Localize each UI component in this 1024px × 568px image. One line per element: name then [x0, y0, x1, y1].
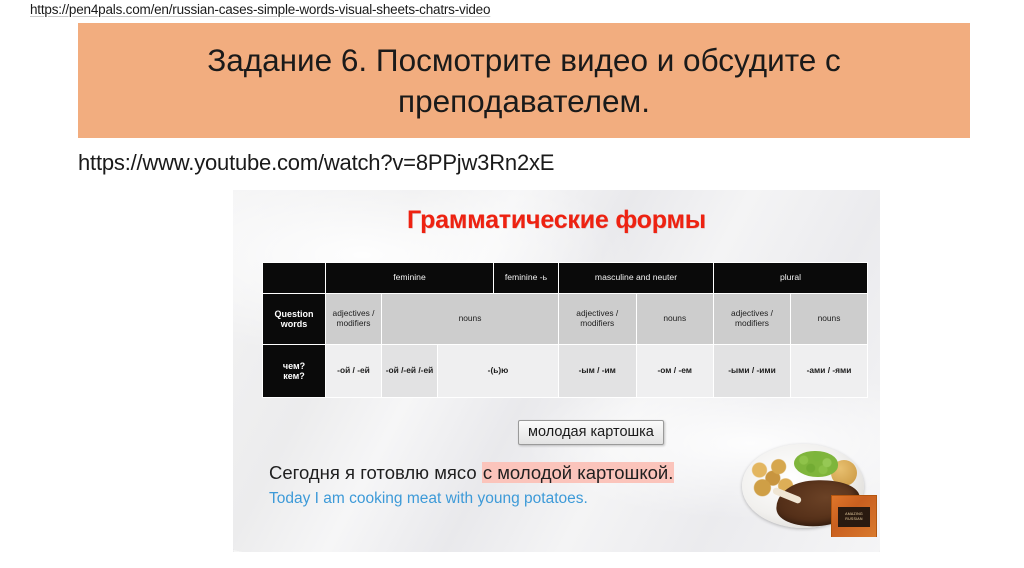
subheader-nouns-plural: nouns	[791, 294, 868, 345]
subheader-nouns-fem: nouns	[382, 294, 559, 345]
logo-line2: RUSSIAN	[845, 517, 862, 522]
example-sentence-russian-highlight: с молодой картошкой.	[482, 462, 675, 483]
page-title: Задание 6. Посмотрите видео и обсудите с…	[78, 40, 970, 121]
grammar-forms-table: feminine feminine -ь masculine and neute…	[262, 262, 868, 398]
table-data-row: чем? кем? -ой / -ей -ой /-ей /-ей -(ь)ю …	[263, 345, 868, 398]
amazing-russian-logo: AMAZING RUSSIAN	[831, 495, 877, 537]
header-cell-feminine: feminine	[326, 263, 494, 294]
value-adjectives-masc: -ым / -им	[559, 345, 637, 398]
example-sentence-russian-plain: Сегодня я готовлю мясо	[269, 462, 482, 483]
food-photo: AMAZING RUSSIAN	[736, 442, 878, 537]
value-nouns-fem-b: -(ь)ю	[438, 345, 559, 398]
example-sentence-english: Today I am cooking meat with young potat…	[269, 490, 588, 508]
header-cell-masculine-neuter: masculine and neuter	[559, 263, 714, 294]
question-word-line1: чем?	[264, 361, 324, 371]
value-nouns-masc: -ом / -ем	[636, 345, 714, 398]
subheader-adjectives-fem: adjectives / modifiers	[326, 294, 382, 345]
value-nouns-fem-a: -ой /-ей /-ей	[382, 345, 438, 398]
row-label-question-words: Question words	[263, 294, 326, 345]
subheader-nouns-masc: nouns	[636, 294, 714, 345]
value-adjectives-plural: -ыми / -ими	[714, 345, 791, 398]
youtube-video-link[interactable]: https://www.youtube.com/watch?v=8PPjw3Rn…	[78, 150, 554, 176]
image-title: Грамматические формы	[233, 206, 880, 235]
value-adjectives-fem: -ой / -ей	[326, 345, 382, 398]
page-url-text: https://pen4pals.com/en/russian-cases-si…	[30, 2, 490, 17]
logo-inner-plate: AMAZING RUSSIAN	[838, 507, 870, 527]
table-subheader-row: Question words adjectives / modifiers no…	[263, 294, 868, 345]
header-cell-empty	[263, 263, 326, 294]
green-peas	[794, 451, 838, 477]
subheader-adjectives-plural: adjectives / modifiers	[714, 294, 791, 345]
callout-label: молодая картошка	[518, 420, 664, 445]
subheader-adjectives-masc: adjectives / modifiers	[559, 294, 637, 345]
grammar-forms-image: Грамматические формы feminine feminine -…	[233, 190, 880, 552]
table-header-row: feminine feminine -ь masculine and neute…	[263, 263, 868, 294]
row-label-question: чем? кем?	[263, 345, 326, 398]
value-nouns-plural: -ами / -ями	[791, 345, 868, 398]
task-title-banner: Задание 6. Посмотрите видео и обсудите с…	[78, 23, 970, 138]
question-word-line2: кем?	[264, 371, 324, 381]
header-cell-plural: plural	[714, 263, 868, 294]
header-cell-feminine-soft: feminine -ь	[494, 263, 559, 294]
example-sentence-russian: Сегодня я готовлю мясо с молодой картошк…	[269, 462, 674, 484]
